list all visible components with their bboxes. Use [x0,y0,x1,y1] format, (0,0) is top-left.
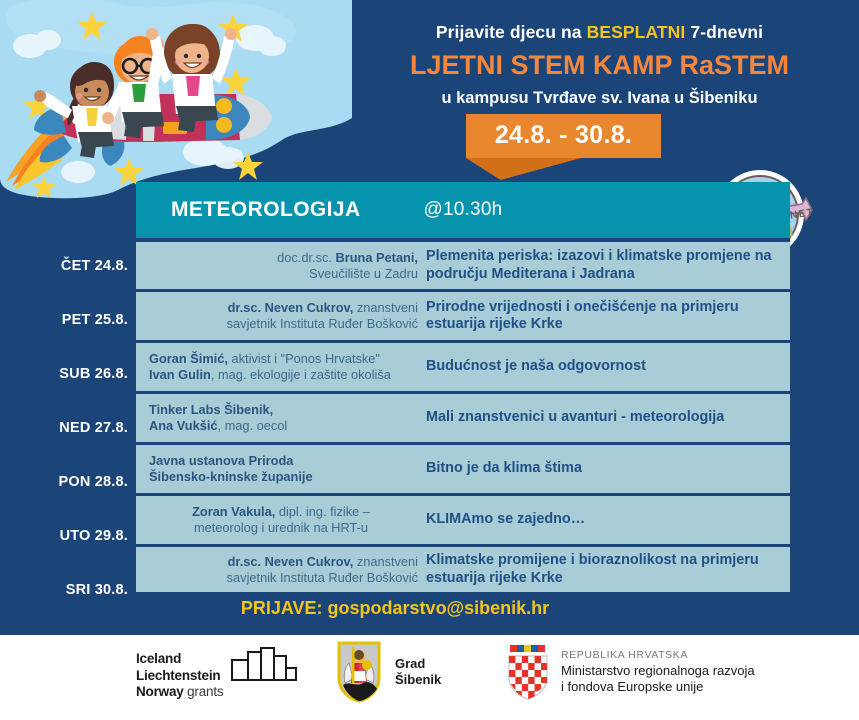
sibenik-coat-of-arms-icon [335,641,383,703]
table-row: Goran Šimić, aktivist i "Ponos Hrvatske"… [136,340,790,391]
table-row: dr.sc. Neven Cukrov, znanstvenisavjetnik… [136,289,790,340]
header-line-1: Prijavite djecu na BESPLATNI 7-dnevni [340,22,859,43]
presenter-cell: Javna ustanova PrirodaŠibensko-kninske ž… [136,453,426,485]
presenter-cell: Zoran Vakula, dipl. ing. fizike –meteoro… [136,504,426,536]
eea-blocks-icon [231,647,297,681]
topic-cell: Budućnost je naša odgovornost [426,358,790,376]
date-range-text: 24.8. - 30.8. [495,121,632,150]
day-label: NED 27.8. [0,420,128,436]
presenter-cell: dr.sc. Neven Cukrov, znanstvenisavjetnik… [136,554,426,586]
table-row: doc.dr.sc. Bruna Petani,Sveučilište u Za… [136,238,790,289]
poster-canvas: Prijavite djecu na BESPLATNI 7-dnevni LJ… [0,0,859,720]
day-label: SUB 26.8. [0,366,128,382]
presenter-line-1: Tinker Labs Šibenik, [149,402,426,418]
footer-logos: Iceland Liechtenstein Norway grants [0,635,859,720]
presenter-name: Bruna Petani, [336,250,419,265]
day-label: PET 25.8. [0,312,128,328]
presenter-cell: dr.sc. Neven Cukrov, znanstvenisavjetnik… [136,300,426,332]
day-label: PON 28.8. [0,474,128,490]
header-free-highlight: BESPLATNI [587,22,686,42]
day-label: UTO 29.8. [0,528,128,544]
table-header: METEOROLOGIJA @10.30h [136,182,790,238]
grad-line-1: Grad [395,656,441,672]
presenter-name: Goran Šimić, [149,351,228,366]
header-line1-pre: Prijavite djecu na [436,22,587,42]
croatia-coat-of-arms-icon [505,643,551,701]
logo-eea-grants: Iceland Liechtenstein Norway grants [136,647,297,705]
presenter-cell: doc.dr.sc. Bruna Petani,Sveučilište u Za… [136,250,426,282]
presenter-cell: Tinker Labs Šibenik,Ana Vukšić, mag. oec… [136,402,426,434]
table-row: Tinker Labs Šibenik,Ana Vukšić, mag. oec… [136,391,790,442]
topic-cell: Mali znanstvenici u avanturi - meteorolo… [426,409,790,427]
eea-line-2: Liechtenstein [136,668,223,685]
topic-cell: Prirodne vrijednosti i onečišćenje na pr… [426,299,790,334]
presenter-name: Zoran Vakula, [192,504,275,519]
presenter-line-1: Javna ustanova Priroda [149,453,426,469]
presenter-cell: Goran Šimić, aktivist i "Ponos Hrvatske"… [136,351,426,383]
table-row: Javna ustanova PrirodaŠibensko-kninske ž… [136,442,790,493]
presenter-name: dr.sc. Neven Cukrov, [228,300,354,315]
subject-label: METEOROLOGIJA [171,198,361,222]
presenter-line-2: savjetnik Instituta Ruđer Bošković [136,316,418,332]
presenter-line-2: Ana Vukšić, mag. oecol [149,418,426,434]
time-label: @10.30h [424,199,503,221]
presenter-line-1: Goran Šimić, aktivist i "Ponos Hrvatske" [149,351,426,367]
presenter-line-1: dr.sc. Neven Cukrov, znanstveni [136,554,418,570]
schedule-table: METEOROLOGIJA @10.30h doc.dr.sc. Bruna P… [136,182,790,595]
presenter-name-2: Šibensko-kninske županije [149,469,313,484]
presenter-line-2: savjetnik Instituta Ruđer Bošković [136,570,418,586]
logo-grad-sibenik: Grad Šibenik [335,641,441,703]
day-label: SRI 30.8. [0,582,128,598]
presenter-name: Javna ustanova Priroda [149,453,293,468]
rocket-kids-illustration [0,0,352,200]
presenter-line-2: Šibensko-kninske županije [149,469,426,485]
presenter-name-2: Ana Vukšić [149,418,218,433]
presenter-line-2: meteorolog i urednik na HRT-u [136,520,426,536]
ministry-line-1: Ministarstvo regionalnoga razvoja [561,663,755,679]
logo-ministry: REPUBLIKA HRVATSKA Ministarstvo regional… [505,643,755,701]
presenter-line-1: dr.sc. Neven Cukrov, znanstveni [136,300,418,316]
ministry-line-2: i fondova Europske unije [561,679,755,695]
topic-cell: KLIMAmo se zajedno… [426,511,790,529]
presenter-line-2: Sveučilište u Zadru [136,266,418,282]
date-banner-tail [466,158,581,180]
topic-cell: Bitno je da klima štima [426,460,790,478]
header-text-block: Prijavite djecu na BESPLATNI 7-dnevni LJ… [340,22,859,108]
eea-line-3-light: grants [184,684,224,699]
presenter-name: Tinker Labs Šibenik, [149,402,273,417]
topic-cell: Plemenita periska: izazovi i klimatske p… [426,248,790,283]
registration-contact[interactable]: PRIJAVE: gospodarstvo@sibenik.hr [0,598,790,619]
presenter-line-1: doc.dr.sc. Bruna Petani, [136,250,418,266]
header-line1-post: 7-dnevni [685,22,763,42]
presenter-line-1: Zoran Vakula, dipl. ing. fizike – [136,504,426,520]
eea-line-3-bold: Norway [136,684,184,699]
camp-title: LJETNI STEM KAMP RaSTEM [340,50,859,81]
ministry-republic-label: REPUBLIKA HRVATSKA [561,649,755,661]
eea-line-1: Iceland [136,651,223,668]
table-row: dr.sc. Neven Cukrov, znanstvenisavjetnik… [136,544,790,595]
topic-cell: Klimatske promijene i bioraznolikost na … [426,552,790,587]
grad-line-2: Šibenik [395,672,441,688]
presenter-name-2: Ivan Gulin [149,367,211,382]
presenter-line-2: Ivan Gulin, mag. ekologije i zaštite oko… [149,367,426,383]
presenter-name: dr.sc. Neven Cukrov, [228,554,354,569]
table-row: Zoran Vakula, dipl. ing. fizike –meteoro… [136,493,790,544]
date-banner: 24.8. - 30.8. [466,114,661,158]
venue-line: u kampusu Tvrđave sv. Ivana u Šibeniku [340,89,859,108]
day-label: ČET 24.8. [0,258,128,274]
